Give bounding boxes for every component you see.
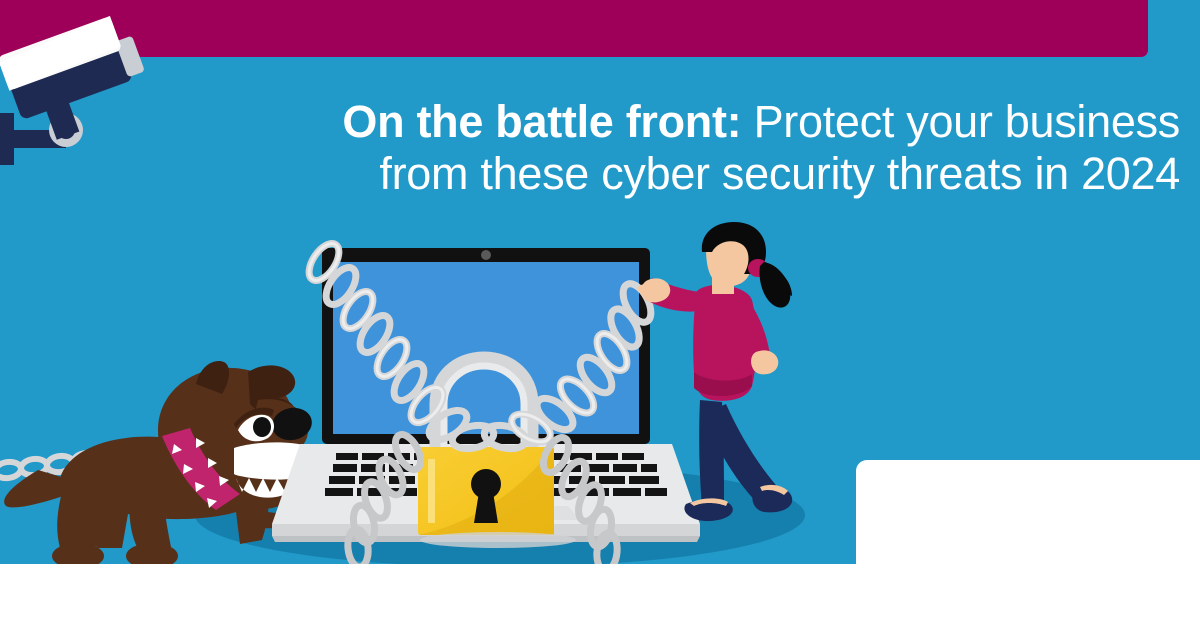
banner: On the battle front: Protect your busine…	[0, 0, 1200, 628]
bottom-right-white-panel	[856, 460, 1200, 628]
headline-lead: On the battle front:	[342, 96, 741, 147]
page-title: On the battle front: Protect your busine…	[0, 96, 1180, 200]
